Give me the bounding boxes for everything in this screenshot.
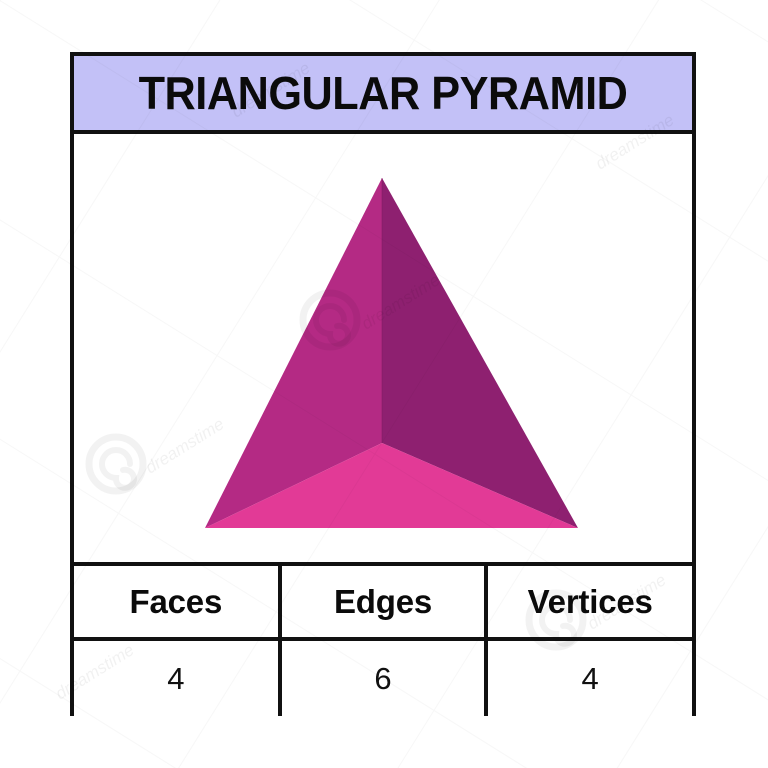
title-band: TRIANGULAR PYRAMID (74, 56, 692, 134)
table-value-row: 4 6 4 (70, 641, 696, 716)
pyramid-figure-region (74, 134, 692, 566)
table-header-faces: Faces (70, 566, 282, 637)
properties-table: Faces Edges Vertices 4 6 4 (70, 562, 696, 712)
table-header-edges: Edges (278, 566, 489, 637)
page-title: TRIANGULAR PYRAMID (139, 70, 628, 116)
pyramid-info-card: TRIANGULAR PYRAMID Faces Edges Vertices (70, 52, 696, 712)
figure-canvas: dreamstime dreamstime dreamstime dreamst… (0, 0, 768, 768)
table-value-faces: 4 (70, 641, 282, 716)
table-value-edges: 6 (278, 641, 489, 716)
table-header-row: Faces Edges Vertices (70, 566, 696, 641)
table-value-vertices: 4 (484, 641, 696, 716)
triangular-pyramid-graphic (74, 134, 692, 566)
table-header-vertices: Vertices (484, 566, 696, 637)
